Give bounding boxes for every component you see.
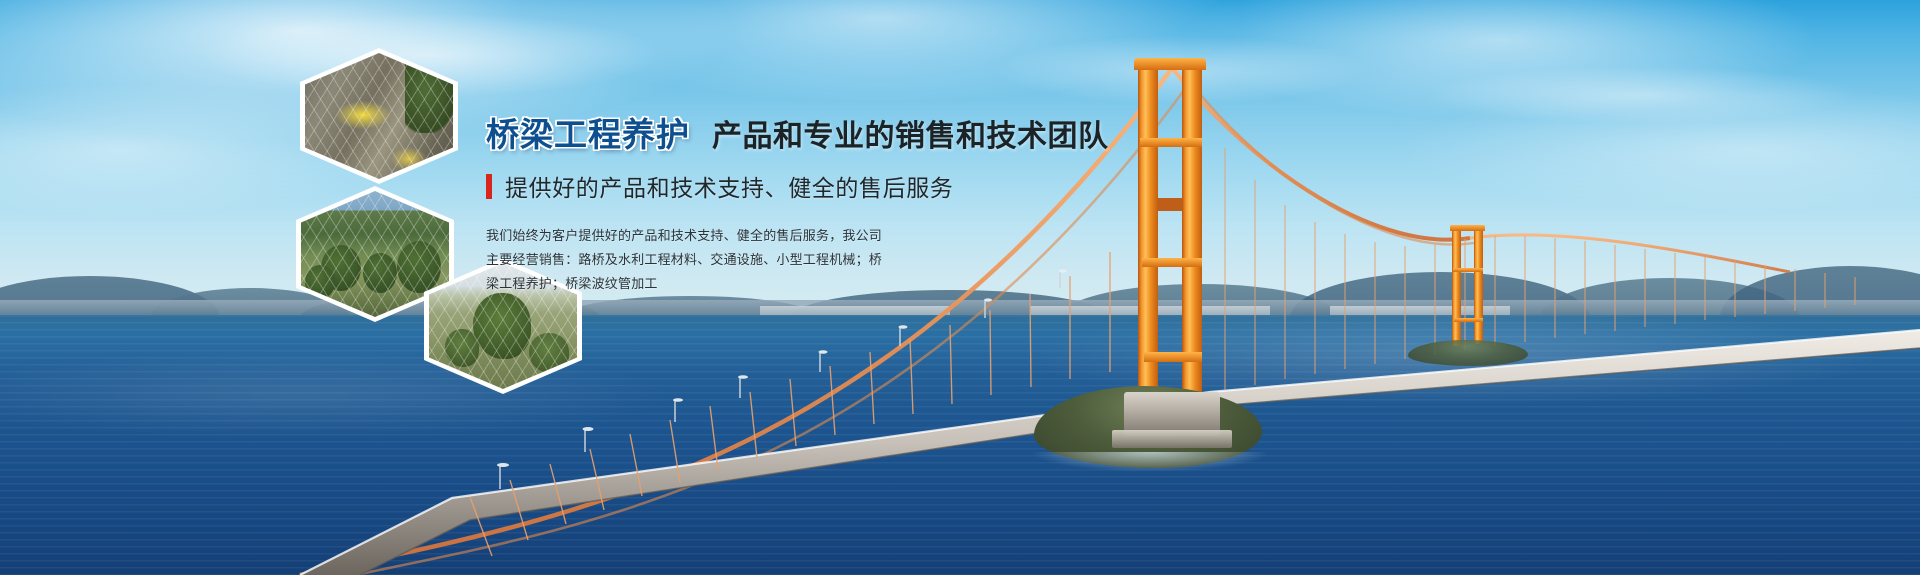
headline-primary: 桥梁工程养护 — [486, 118, 690, 151]
tower-far-crossbeam — [1453, 268, 1483, 272]
tower-far-crossbeam — [1454, 318, 1483, 322]
pier-foundation-base — [1112, 430, 1232, 448]
bridge-tower-main-left — [1138, 62, 1158, 402]
banner-headline: 桥梁工程养护 产品和专业的销售和技术团队 — [486, 118, 1106, 152]
headline-secondary: 产品和专业的销售和技术团队 — [712, 122, 1109, 152]
island-shoreline — [1030, 452, 1270, 472]
tower-crossbeam — [1142, 258, 1202, 267]
banner-text-block: 桥梁工程养护 产品和专业的销售和技术团队 提供好的产品和技术支持、健全的售后服务… — [486, 118, 1106, 296]
hero-banner: 桥梁工程养护 产品和专业的销售和技术团队 提供好的产品和技术支持、健全的售后服务… — [0, 0, 1920, 575]
tower-crossbeam — [1140, 138, 1202, 147]
tower-top-cap — [1134, 58, 1206, 70]
subline-text: 提供好的产品和技术支持、健全的售后服务 — [505, 169, 953, 203]
tower-crossbeam — [1144, 352, 1202, 362]
bridge-tower-far-right — [1474, 228, 1483, 344]
bridge-tower-far-left — [1452, 228, 1461, 346]
bridge-tower-main-right — [1182, 62, 1202, 392]
hex-photo-1[interactable] — [300, 48, 458, 184]
banner-subline: 提供好的产品和技术支持、健全的售后服务 — [486, 169, 1106, 203]
accent-bar — [486, 174, 492, 199]
banner-body-text: 我们始终为客户提供好的产品和技术支持、健全的售后服务，我公司主要经营销售：路桥及… — [486, 224, 886, 296]
tower-far-top-cap — [1450, 225, 1485, 231]
pier-island-far — [1408, 340, 1528, 366]
